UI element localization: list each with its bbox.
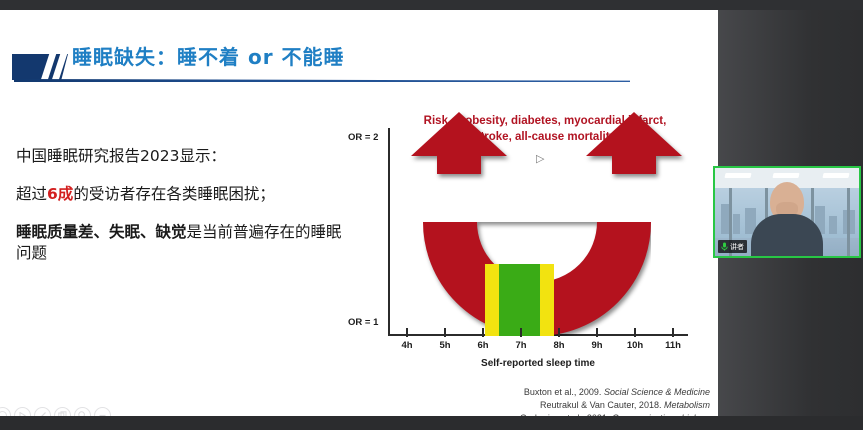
x-tick-label: 7h [515,340,526,351]
zoom-in-icon[interactable] [74,407,91,417]
x-tick-label: 4h [401,340,412,351]
pen-icon[interactable] [34,407,51,417]
zoom-out-icon[interactable] [94,407,111,417]
x-tick [596,328,598,337]
arrow-right-icon [586,112,682,174]
y-axis-label-top: OR = 2 [348,132,378,143]
window-bottom-bar [0,416,863,430]
body-line-2: 超过6成的受访者存在各类睡眠困扰； [16,184,346,205]
y-axis-line [388,128,390,336]
slide-canvas[interactable]: 睡眠缺失：睡不着 or 不能睡 中国睡眠研究报告2023显示： 超过6成的受访者… [0,10,718,416]
x-tick-label: 8h [553,340,564,351]
title-divider [14,79,630,82]
x-tick [672,328,674,337]
ceiling-light [724,173,751,178]
participant-body [751,214,823,256]
risk-curve-figure: Risk of obesity, diabetes, myocardial in… [348,114,698,369]
mouse-cursor-icon: ▷ [536,154,543,164]
body-line-2-suffix: 的受访者存在各类睡眠困扰； [73,185,275,203]
citation-item: Garbarino et al., 2021. Communications b… [462,412,710,416]
participant-name-badge: 讲者 [718,240,747,253]
zone-band-yellow-left [485,264,499,336]
citation-authors: Garbarino et al., 2021. [520,413,610,416]
x-tick [634,328,636,337]
play-icon[interactable] [14,407,31,417]
arrow-left-icon [411,112,507,174]
x-tick-label: 5h [439,340,450,351]
building [829,216,837,234]
window-mullion [847,188,850,258]
y-axis-label-bottom: OR = 1 [348,317,378,328]
x-tick-label: 11h [665,340,681,351]
citation-item: Buxton et al., 2009. Social Science & Me… [462,386,710,399]
x-tick-label: 6h [477,340,488,351]
participant-name: 讲者 [730,242,744,252]
citation-journal: Metabolism [664,400,710,410]
app-root: 睡眠缺失：睡不着 or 不能睡 中国睡眠研究报告2023显示： 超过6成的受访者… [0,0,863,430]
x-tick-label: 9h [591,340,602,351]
slide-toolbar[interactable] [0,406,111,416]
citation-journal: Social Science & Medicine [604,387,710,397]
window-top-bar [0,0,863,10]
slide-body-text: 中国睡眠研究报告2023显示： 超过6成的受访者存在各类睡眠困扰； 睡眠质量差、… [16,146,346,264]
body-line-3-keywords: 睡眠质量差、失眠、缺觉 [16,223,187,241]
ceiling-light [822,173,849,178]
body-line-2-prefix: 超过 [16,185,47,203]
citation-item: Reutrakul & Van Cauter, 2018. Metabolism [462,399,710,412]
body-line-1: 中国睡眠研究报告2023显示： [16,146,346,167]
citation-list: Buxton et al., 2009. Social Science & Me… [462,386,710,416]
x-axis-title: Self-reported sleep time [388,358,688,369]
title-accent-mark [12,54,68,80]
zone-band-green [499,264,540,336]
body-line-2-highlight: 6成 [47,185,73,203]
citation-authors: Reutrakul & Van Cauter, 2018. [540,400,661,410]
duplicate-icon[interactable] [54,407,71,417]
page-title: 睡眠缺失：睡不着 or 不能睡 [72,41,345,70]
x-tick-label: 10h [627,340,643,351]
building [733,214,740,234]
citation-authors: Buxton et al., 2009. [524,387,602,397]
participant-video-tile[interactable]: 讲者 [713,166,861,258]
microphone-icon [721,242,728,251]
x-tick [558,328,560,337]
previous-icon[interactable] [0,407,11,417]
body-line-3: 睡眠质量差、失眠、缺觉是当前普遍存在的睡眠问题 [16,222,346,264]
x-tick [482,328,484,337]
x-tick [444,328,446,337]
citation-journal: Communications biology [612,413,710,416]
zone-band-yellow-right [540,264,554,336]
x-tick [520,328,522,337]
ceiling-light [772,173,799,178]
x-tick [406,328,408,337]
